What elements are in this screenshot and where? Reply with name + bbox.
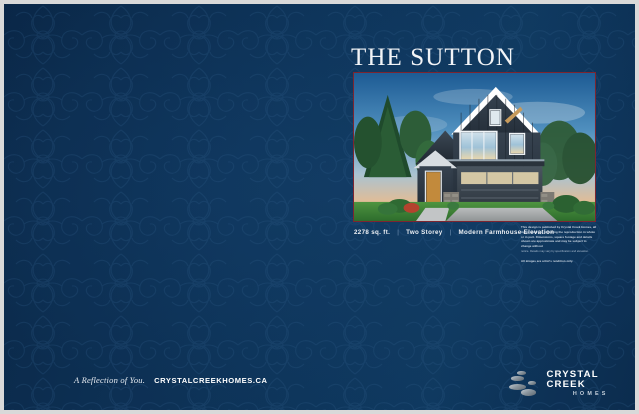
tagline: A Reflection of You.: [74, 375, 145, 385]
stacked-stones-icon: [509, 370, 542, 398]
brochure-page: THE SUTTON: [4, 4, 635, 410]
disclaimer-main: This design is published by Crystal Cree…: [521, 225, 597, 249]
house-elevation-rendering: [354, 73, 595, 222]
footer-tagline-group: A Reflection of You. CRYSTALCREEKHOMES.C…: [74, 375, 268, 385]
page-title: THE SUTTON: [351, 44, 515, 72]
spec-area: 2278 sq. ft.: [354, 229, 390, 236]
spec-separator: |: [397, 229, 399, 236]
disclaimer-block: This design is published by Crystal Cree…: [521, 225, 597, 263]
logo-subtitle: HOMES: [546, 392, 635, 397]
logo-name: CRYSTAL CREEK: [546, 370, 635, 389]
disclaimer-note: All images are artist's rendition only.: [521, 259, 597, 263]
spec-storeys: Two Storey: [406, 229, 442, 236]
house-image-panel: [353, 72, 596, 222]
brand-logo: CRYSTAL CREEK HOMES: [509, 370, 635, 398]
spec-separator: |: [450, 229, 452, 236]
disclaimer-sub: notice. Details may vary by specificatio…: [521, 250, 597, 254]
website-link[interactable]: CRYSTALCREEKHOMES.CA: [154, 376, 268, 385]
